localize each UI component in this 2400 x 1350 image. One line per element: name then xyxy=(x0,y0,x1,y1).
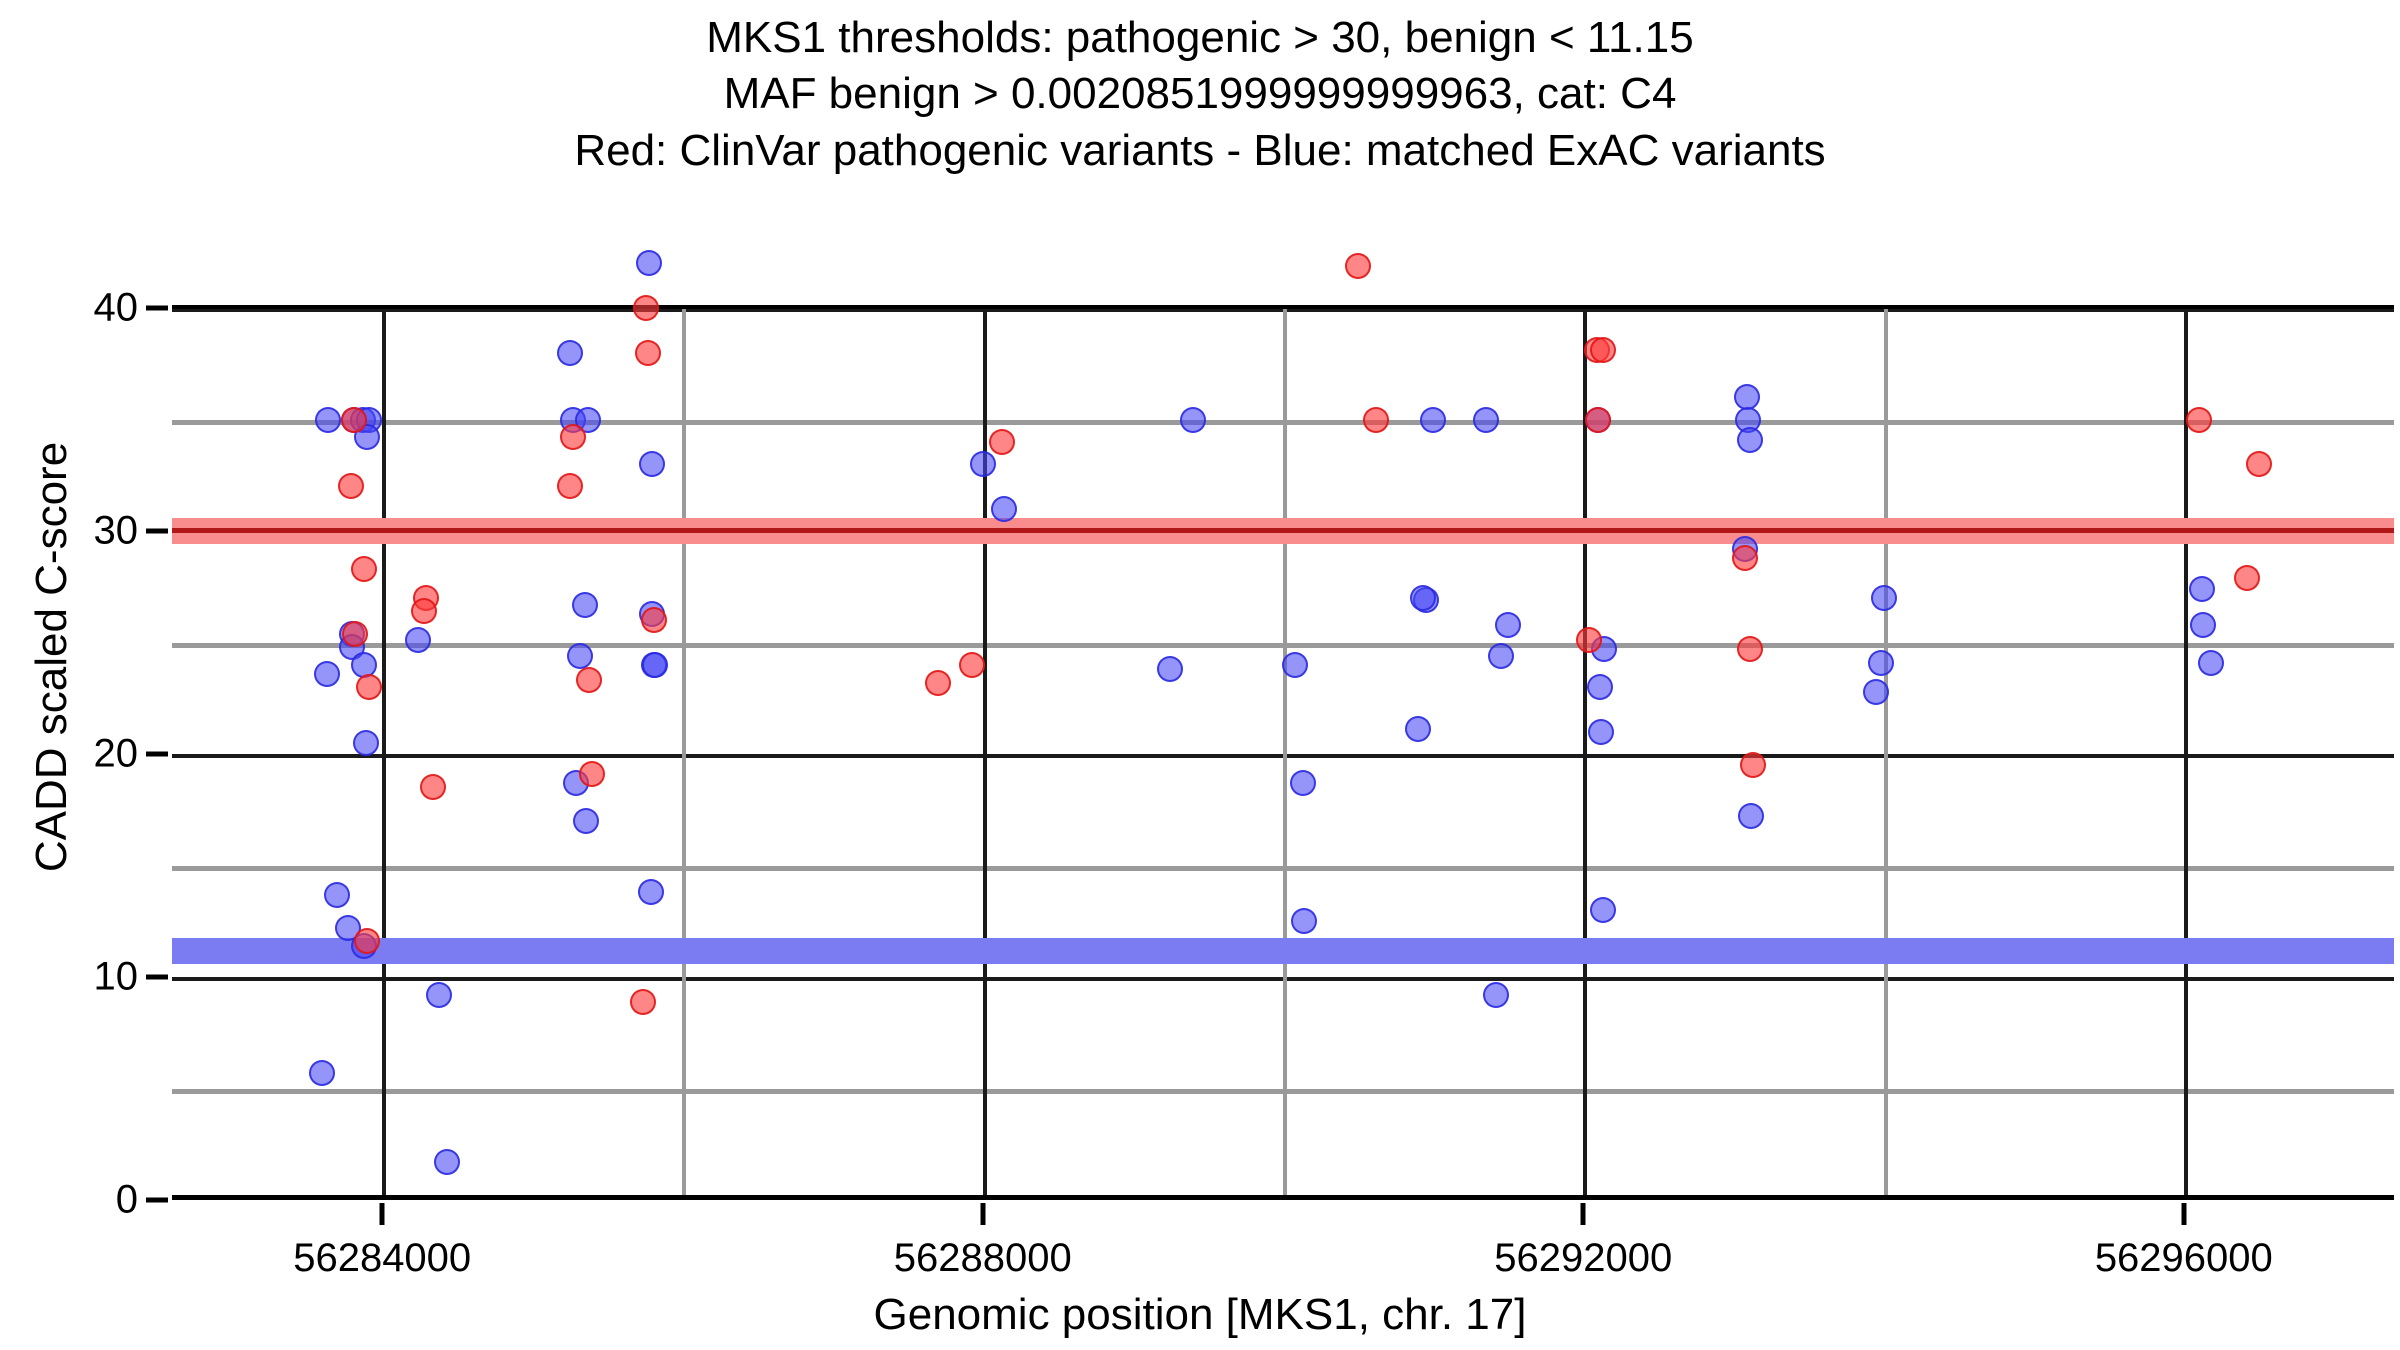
gridline-x-56284000 xyxy=(382,305,386,1200)
plot-panel xyxy=(172,230,2394,1200)
title-line-1: MKS1 thresholds: pathogenic > 30, benign… xyxy=(0,10,2400,66)
data-point xyxy=(1590,337,1616,363)
data-point xyxy=(324,882,350,908)
data-point xyxy=(1290,770,1316,796)
x-tick-label-56296000: 56296000 xyxy=(2095,1236,2273,1281)
x-tick-mark-56284000 xyxy=(380,1203,385,1225)
data-point xyxy=(1737,636,1763,662)
title-line-3: Red: ClinVar pathogenic variants - Blue:… xyxy=(0,123,2400,179)
data-point xyxy=(959,652,985,678)
x-tick-mark-56296000 xyxy=(2181,1203,2186,1225)
chart-title: MKS1 thresholds: pathogenic > 30, benign… xyxy=(0,10,2400,179)
data-point xyxy=(353,730,379,756)
data-point xyxy=(925,670,951,696)
data-point xyxy=(351,556,377,582)
x-tick-label-56292000: 56292000 xyxy=(1494,1236,1672,1281)
y-axis-title: CADD scaled C-score xyxy=(27,337,77,977)
y-tick-mark-20 xyxy=(146,752,168,757)
panel-bottom-border xyxy=(172,1195,2394,1200)
x-axis-title: Genomic position [MKS1, chr. 17] xyxy=(0,1290,2400,1340)
data-point xyxy=(2190,612,2216,638)
data-point xyxy=(1732,545,1758,571)
data-point xyxy=(1483,982,1509,1008)
data-point xyxy=(991,496,1017,522)
figure-root: MKS1 thresholds: pathogenic > 30, benign… xyxy=(0,0,2400,1350)
gridline-x-56286000 xyxy=(682,305,686,1200)
pathogenic-threshold-band xyxy=(172,518,2394,544)
data-point xyxy=(309,1060,335,1086)
data-point xyxy=(1576,627,1602,653)
data-point xyxy=(338,473,364,499)
data-point xyxy=(2189,576,2215,602)
y-tick-label-30: 30 xyxy=(30,509,138,554)
data-point xyxy=(341,407,367,433)
data-point xyxy=(1291,908,1317,934)
y-tick-mark-30 xyxy=(146,529,168,534)
data-point xyxy=(1863,679,1889,705)
data-point xyxy=(1363,407,1389,433)
data-point xyxy=(557,473,583,499)
data-point xyxy=(572,592,598,618)
data-point xyxy=(576,667,602,693)
data-point xyxy=(411,598,437,624)
data-point xyxy=(1590,897,1616,923)
data-point xyxy=(970,451,996,477)
data-point xyxy=(1495,612,1521,638)
data-point xyxy=(1282,652,1308,678)
data-point xyxy=(1871,585,1897,611)
y-tick-label-40: 40 xyxy=(30,286,138,331)
data-point xyxy=(636,250,662,276)
data-point xyxy=(630,989,656,1015)
data-point xyxy=(420,774,446,800)
data-point xyxy=(573,808,599,834)
y-tick-mark-40 xyxy=(146,306,168,311)
data-point xyxy=(641,607,667,633)
data-point xyxy=(560,424,586,450)
gridline-x-56296000 xyxy=(2184,305,2188,1200)
data-point xyxy=(1740,752,1766,778)
x-tick-label-56284000: 56284000 xyxy=(293,1236,471,1281)
data-point xyxy=(1157,656,1183,682)
data-point xyxy=(1180,407,1206,433)
data-point xyxy=(1585,407,1611,433)
data-point xyxy=(638,879,664,905)
x-tick-label-56288000: 56288000 xyxy=(894,1236,1072,1281)
y-tick-mark-0 xyxy=(146,1198,168,1203)
pathogenic-threshold-line xyxy=(172,528,2394,533)
data-point xyxy=(567,643,593,669)
benign-threshold-band xyxy=(172,938,2394,964)
gridline-x-56294000 xyxy=(1884,305,1888,1200)
data-point xyxy=(2186,407,2212,433)
data-point xyxy=(1738,803,1764,829)
data-point xyxy=(1410,585,1436,611)
data-point xyxy=(635,340,661,366)
data-point xyxy=(356,674,382,700)
data-point xyxy=(639,451,665,477)
data-point xyxy=(1420,407,1446,433)
data-point xyxy=(557,340,583,366)
y-tick-label-10: 10 xyxy=(30,955,138,1000)
data-point xyxy=(342,621,368,647)
data-point xyxy=(1587,674,1613,700)
data-point xyxy=(1345,253,1371,279)
data-point xyxy=(1588,719,1614,745)
gridline-x-56292000 xyxy=(1583,305,1587,1200)
data-point xyxy=(1868,650,1894,676)
panel-top-border xyxy=(172,305,2394,309)
data-point xyxy=(642,652,668,678)
data-point xyxy=(579,761,605,787)
data-point xyxy=(315,407,341,433)
data-point xyxy=(1737,427,1763,453)
data-point xyxy=(426,982,452,1008)
x-tick-mark-56288000 xyxy=(980,1203,985,1225)
title-line-2: MAF benign > 0.0020851999999999963, cat:… xyxy=(0,66,2400,122)
data-point xyxy=(1473,407,1499,433)
data-point xyxy=(2246,451,2272,477)
data-point xyxy=(405,627,431,653)
y-tick-label-20: 20 xyxy=(30,732,138,777)
data-point xyxy=(354,928,380,954)
gridline-x-56288000 xyxy=(983,305,987,1200)
data-point xyxy=(1405,716,1431,742)
data-point xyxy=(434,1149,460,1175)
data-point xyxy=(314,661,340,687)
y-tick-label-0: 0 xyxy=(30,1178,138,1223)
y-tick-mark-10 xyxy=(146,975,168,980)
data-point xyxy=(989,429,1015,455)
data-point xyxy=(1488,643,1514,669)
gridline-x-56290000 xyxy=(1283,305,1287,1200)
x-tick-mark-56292000 xyxy=(1581,1203,1586,1225)
data-point xyxy=(633,295,659,321)
data-point xyxy=(2234,565,2260,591)
data-point xyxy=(2198,650,2224,676)
